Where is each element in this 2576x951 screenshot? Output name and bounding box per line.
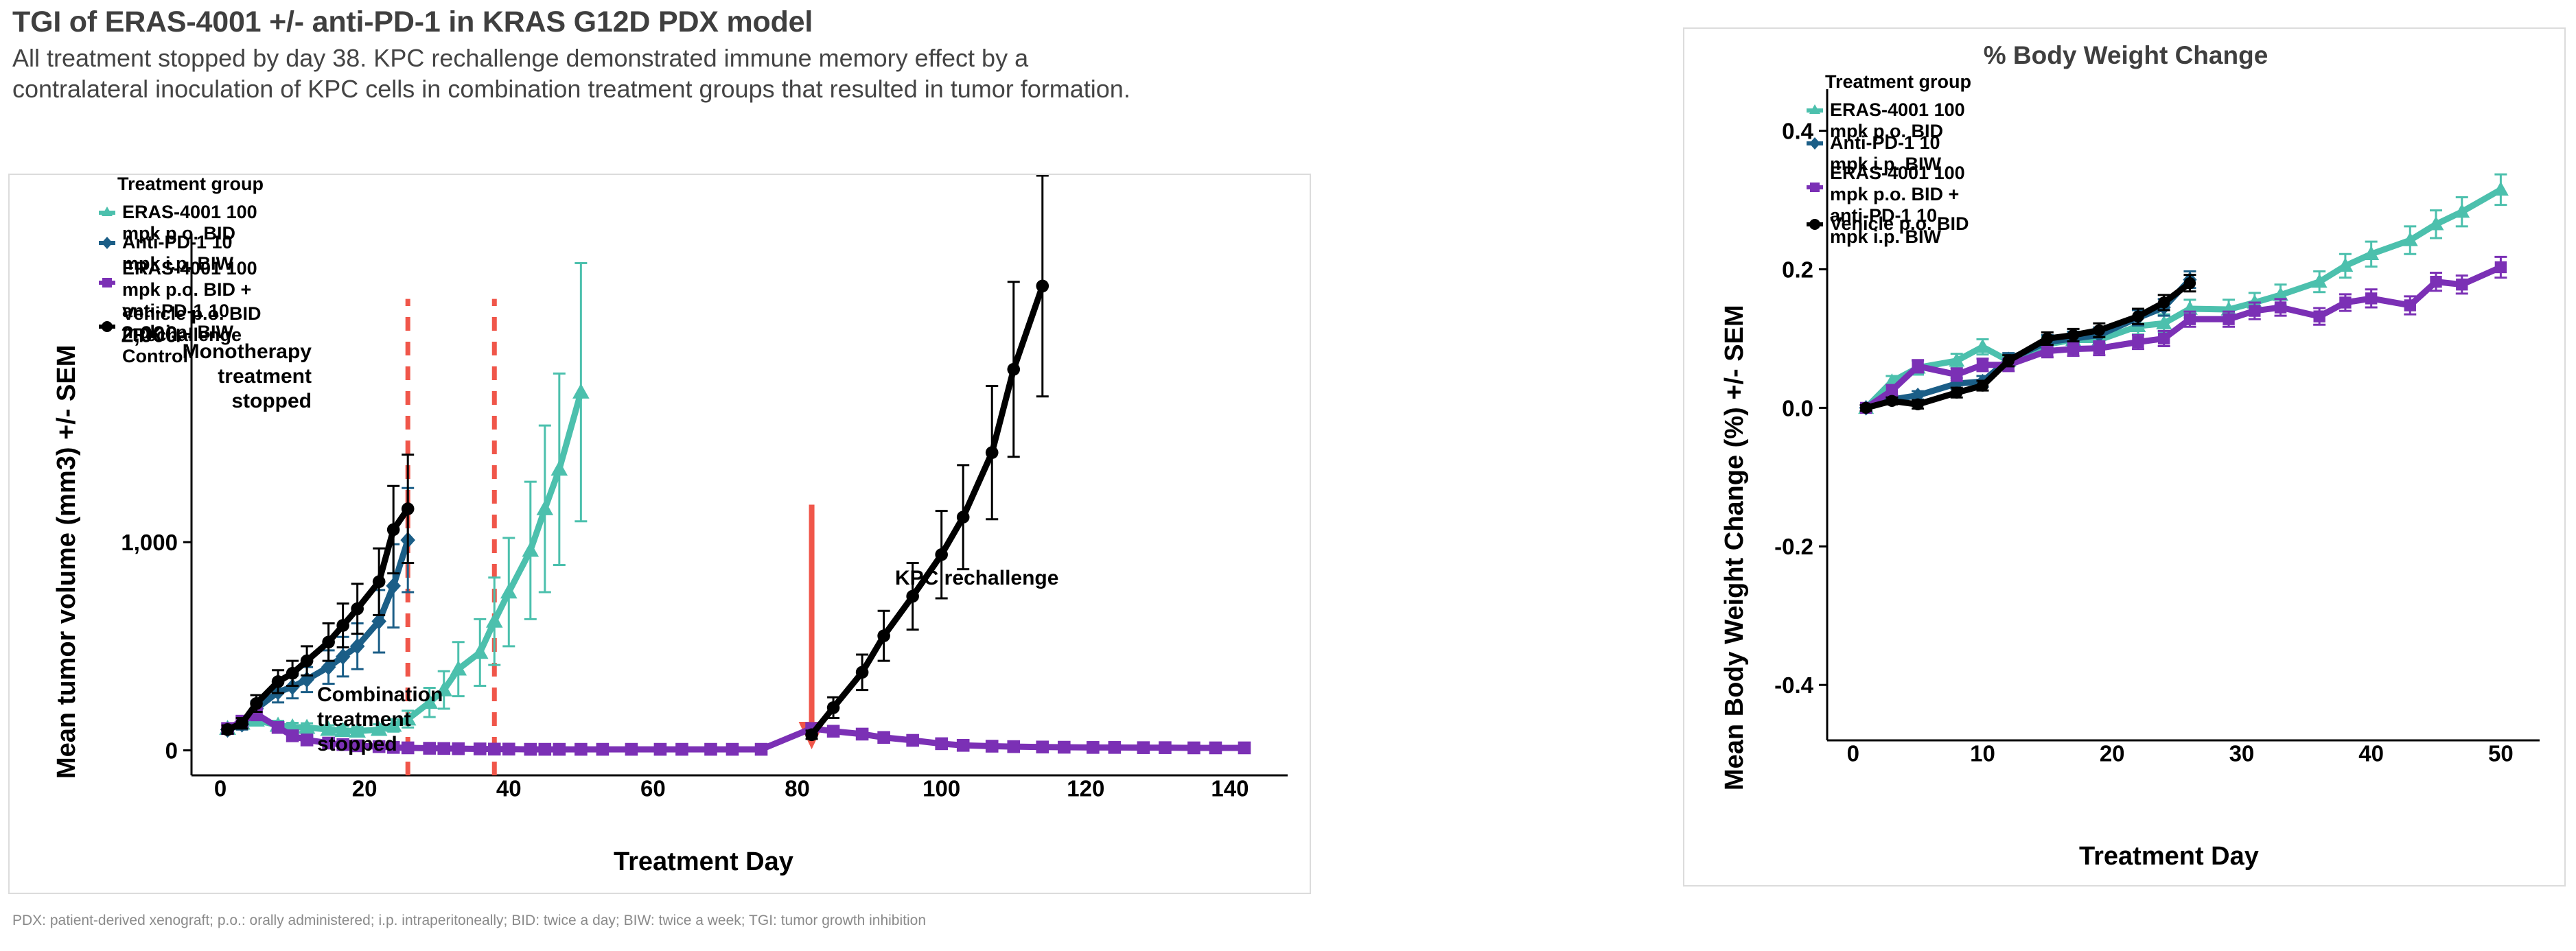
footnote-abbreviations: PDX: patient-derived xenograft; p.o.: or… — [12, 913, 1660, 929]
x-tick-label: 30 — [2229, 740, 2255, 766]
right-legend-title: Treatment group — [1825, 71, 1971, 93]
annot-mono-line1: Monotherapy — [123, 340, 312, 364]
right-legend: Treatment group ERAS-4001 100 mpk p.o. B… — [1807, 71, 1971, 242]
x-tick-label: 0 — [1847, 740, 1859, 766]
x-tick-label: 20 — [2100, 740, 2125, 766]
annotation-monotherapy-stopped: Monotherapy treatment stopped — [123, 340, 312, 414]
square-marker-icon — [99, 274, 115, 291]
x-tick-label: 0 — [214, 775, 227, 801]
right-legend-item-vehicle[interactable]: Vehicle p.o. BID — [1807, 211, 1971, 242]
right-legend-label-vehicle: Vehicle p.o. BID — [1830, 213, 1969, 235]
x-tick-label: 50 — [2488, 740, 2514, 766]
x-tick-label: 60 — [640, 775, 666, 801]
annot-combo-line3: stopped — [317, 732, 523, 757]
body-weight-chart-panel: % Body Weight Change 01020304050-0.4-0.2… — [1683, 27, 2566, 887]
annot-mono-line3: stopped — [123, 389, 312, 414]
x-tick-label: 100 — [923, 775, 960, 801]
subtitle-line-2: contralateral inoculation of KPC cells i… — [12, 73, 1584, 104]
page-title: TGI of ERAS-4001 +/- anti-PD-1 in KRAS G… — [12, 5, 1564, 39]
right-y-axis-title: Mean Body Weight Change (%) +/- SEM — [1720, 305, 1750, 790]
right-legend-item-antipd1[interactable]: Anti-PD-1 10 mpk i.p. BIW — [1807, 130, 1971, 163]
y-tick-label: 0.2 — [1782, 257, 1813, 282]
x-tick-label: 80 — [785, 775, 810, 801]
page-subtitle: All treatment stopped by day 38. KPC rec… — [12, 43, 1584, 104]
left-legend-item-eras4001[interactable]: ERAS-4001 100 mpk p.o. BID — [99, 199, 264, 229]
annot-combo-line2: treatment — [317, 707, 523, 732]
x-tick-label: 10 — [1970, 740, 1995, 766]
diamond-marker-icon — [1807, 135, 1823, 152]
series-circle — [1860, 275, 2196, 414]
circle-marker-icon — [99, 318, 115, 335]
left-y-axis-title: Mean tumor volume (mm3) +/- SEM — [52, 345, 82, 779]
right-legend-item-combo[interactable]: ERAS-4001 100 mpk p.o. BID + anti-PD-1 1… — [1807, 163, 1971, 211]
annotation-kpc-rechallenge: KPC rechallenge — [895, 566, 1058, 591]
subtitle-line-1: All treatment stopped by day 38. KPC rec… — [12, 43, 1584, 73]
x-tick-label: 20 — [352, 775, 378, 801]
x-tick-label: 40 — [2358, 740, 2384, 766]
right-legend-label-combo-line1: ERAS-4001 100 mpk p.o. BID + — [1830, 163, 1971, 205]
left-legend-item-combo[interactable]: ERAS-4001 100 mpk p.o. BID + anti-PD-1 1… — [99, 259, 264, 305]
x-tick-label: 120 — [1067, 775, 1104, 801]
left-legend: Treatment group ERAS-4001 100 mpk p.o. B… — [99, 174, 264, 350]
left-legend-item-antipd1[interactable]: Anti-PD-1 10 mpk i.p. BIW — [99, 229, 264, 259]
series-triangle — [219, 263, 589, 737]
triangle-marker-icon — [1807, 102, 1823, 119]
left-legend-title: Treatment group — [117, 174, 264, 195]
right-legend-item-eras4001[interactable]: ERAS-4001 100 mpk p.o. BID — [1807, 97, 1971, 130]
right-x-axis-title: Treatment Day — [2079, 842, 2259, 871]
y-tick-label: 1,000 — [121, 530, 178, 555]
annot-combo-line1: Combination — [317, 683, 523, 707]
y-tick-label: -0.2 — [1774, 534, 1813, 559]
x-tick-label: 40 — [496, 775, 522, 801]
left-legend-label-combo-line1: ERAS-4001 100 mpk p.o. BID + — [122, 258, 264, 301]
tumor-volume-chart-panel: 02040608010012014001,0002,000 Mean tumor… — [8, 174, 1311, 894]
annot-mono-line2: treatment — [123, 364, 312, 389]
annotation-combination-stopped: Combination treatment stopped — [317, 683, 523, 757]
left-x-axis-title: Treatment Day — [614, 847, 793, 877]
square-marker-icon — [1807, 179, 1823, 196]
x-tick-label: 140 — [1211, 775, 1249, 801]
y-tick-label: -0.4 — [1774, 672, 1814, 698]
diamond-marker-icon — [99, 235, 115, 251]
y-tick-label: 0 — [165, 738, 178, 763]
y-tick-label: 0.0 — [1782, 395, 1813, 421]
triangle-marker-icon — [99, 204, 115, 221]
circle-marker-icon — [1807, 216, 1823, 233]
